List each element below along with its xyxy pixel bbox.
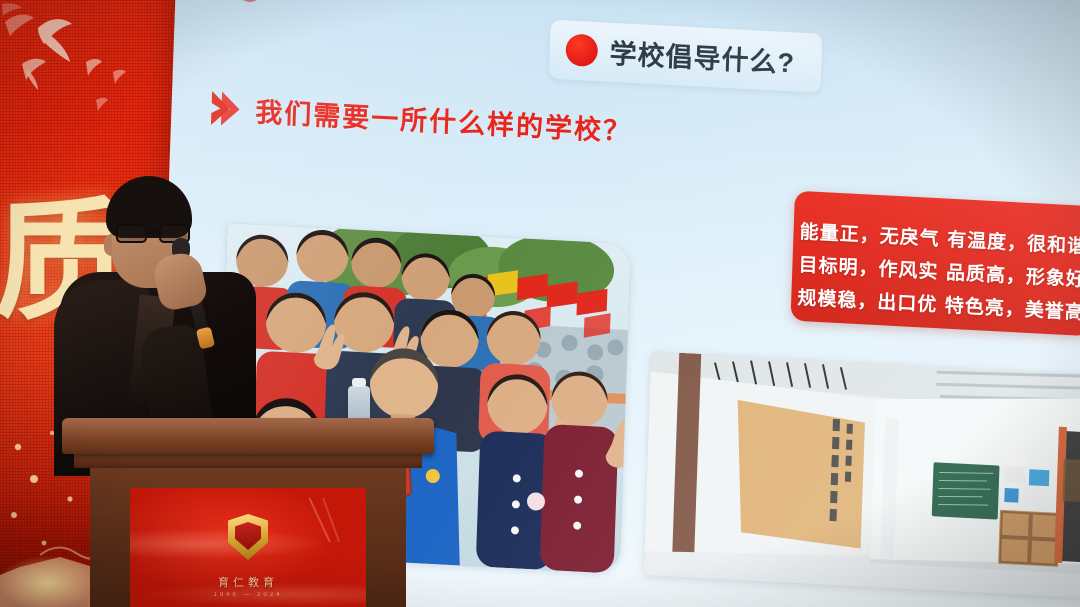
podium-band <box>74 452 422 468</box>
podium-script-decoration <box>292 498 352 542</box>
podium-front-panel: 育仁教育 1946 — 2024 <box>130 488 366 607</box>
slide-title-pill: 学校倡导什么? <box>549 20 822 93</box>
red-dot-icon <box>565 33 598 67</box>
school-logo-text: 重庆市育仁中学校 <box>270 0 358 2</box>
corridor-photo-graphic <box>643 351 1080 598</box>
slogan-line: 目标明，作风实 品质高，形象好 <box>798 249 1080 291</box>
school-emblem-icon <box>228 514 268 560</box>
stage-scene: 质 <box>0 0 1080 607</box>
school-seal-icon <box>237 0 262 2</box>
slogan-line: 能量正，无戾气 有温度，很和谐 <box>799 216 1080 258</box>
podium-top <box>62 418 434 454</box>
water-bottle-cap <box>352 378 366 387</box>
slogan-card: 能量正，无戾气 有温度，很和谐 目标明，作风实 品质高，形象好 规模稳，出口优 … <box>790 191 1080 337</box>
slide-subtitle-row: 我们需要一所什么样的学校？ <box>209 88 633 149</box>
school-logo: 重庆市育仁中学校 <box>237 0 359 8</box>
podium-sub-text: 1946 — 2024 <box>130 592 366 598</box>
slogan-line: 规模稳，出口优 特色亮，美誉高 <box>797 282 1080 324</box>
school-corridor-photo <box>643 351 1080 598</box>
slide-subtitle: 我们需要一所什么样的学校？ <box>255 90 633 149</box>
chevron-right-icon <box>209 88 240 128</box>
slide-title: 学校倡导什么? <box>609 32 796 81</box>
podium-name-text: 育仁教育 <box>130 574 366 590</box>
podium: 育仁教育 1946 — 2024 <box>62 418 434 607</box>
